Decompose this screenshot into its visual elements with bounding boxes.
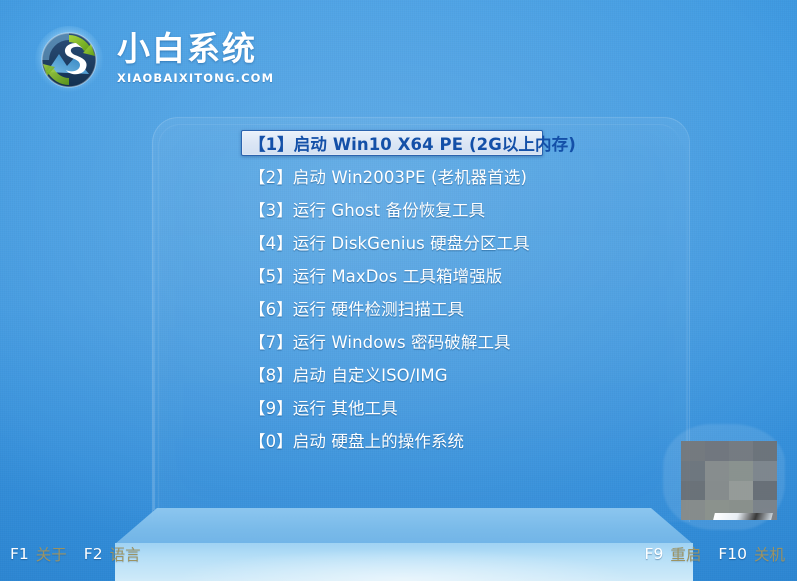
- brand-logo: 小白系统 XIAOBAIXITONG.COM: [33, 22, 283, 102]
- brand-name-cn: 小白系统: [117, 30, 287, 68]
- hint-label-f9[interactable]: 重启: [670, 543, 701, 565]
- boot-menu-item-0[interactable]: 【0】启动 硬盘上的操作系统: [241, 427, 543, 453]
- mosaic-tile: [753, 461, 777, 481]
- mosaic-tile: [753, 481, 777, 501]
- boot-menu-list[interactable]: 【1】启动 Win10 X64 PE (2G以上内存)【2】启动 Win2003…: [241, 130, 543, 460]
- hint-key-f1: F1: [10, 545, 29, 563]
- boot-menu-item-7[interactable]: 【7】运行 Windows 密码破解工具: [241, 328, 543, 354]
- mosaic-tile: [705, 481, 729, 501]
- mosaic-tile: [753, 441, 777, 461]
- function-key-hints-left[interactable]: F1关于F2语言: [10, 543, 141, 565]
- xiaobai-globe-logo-icon: [33, 24, 105, 96]
- mosaic-tile: [705, 461, 729, 481]
- brand-text: 小白系统 XIAOBAIXITONG.COM: [117, 30, 287, 85]
- boot-menu-item-5[interactable]: 【5】运行 MaxDos 工具箱增强版: [241, 262, 543, 288]
- mosaic-tile: [705, 441, 729, 461]
- hint-label-f1[interactable]: 关于: [36, 543, 67, 565]
- boot-menu-item-8[interactable]: 【8】启动 自定义ISO/IMG: [241, 361, 543, 387]
- hint-label-f10[interactable]: 关机: [754, 543, 785, 565]
- function-key-hints-right[interactable]: F9重启F10关机: [645, 543, 785, 565]
- mosaic-tile: [729, 481, 753, 501]
- boot-menu-screen: 小白系统 XIAOBAIXITONG.COM 【1】启动 Win10 X64 P…: [0, 0, 797, 581]
- hint-key-f10: F10: [718, 545, 747, 563]
- stage-left-edge: [153, 118, 155, 510]
- boot-menu-item-6[interactable]: 【6】运行 硬件检测扫描工具: [241, 295, 543, 321]
- brand-name-en: XIAOBAIXITONG.COM: [117, 71, 287, 85]
- boot-menu-item-2[interactable]: 【2】启动 Win2003PE (老机器首选): [241, 163, 543, 189]
- boot-menu-item-4[interactable]: 【4】运行 DiskGenius 硬盘分区工具: [241, 229, 543, 255]
- mosaic-tile: [681, 481, 705, 501]
- mosaic-censored-region: [681, 441, 777, 520]
- mosaic-strip: [713, 513, 773, 520]
- hint-label-f2[interactable]: 语言: [110, 543, 141, 565]
- mosaic-tile: [681, 500, 705, 520]
- podium-front-highlight: [115, 543, 693, 581]
- podium-top-surface: [115, 508, 693, 544]
- hint-key-f2: F2: [84, 545, 103, 563]
- mosaic-tile: [729, 441, 753, 461]
- boot-menu-item-9[interactable]: 【9】运行 其他工具: [241, 394, 543, 420]
- mosaic-tile: [681, 461, 705, 481]
- boot-menu-item-1[interactable]: 【1】启动 Win10 X64 PE (2G以上内存): [241, 130, 543, 156]
- boot-menu-item-3[interactable]: 【3】运行 Ghost 备份恢复工具: [241, 196, 543, 222]
- mosaic-tile: [681, 441, 705, 461]
- hint-key-f9: F9: [645, 545, 664, 563]
- mosaic-tile: [729, 461, 753, 481]
